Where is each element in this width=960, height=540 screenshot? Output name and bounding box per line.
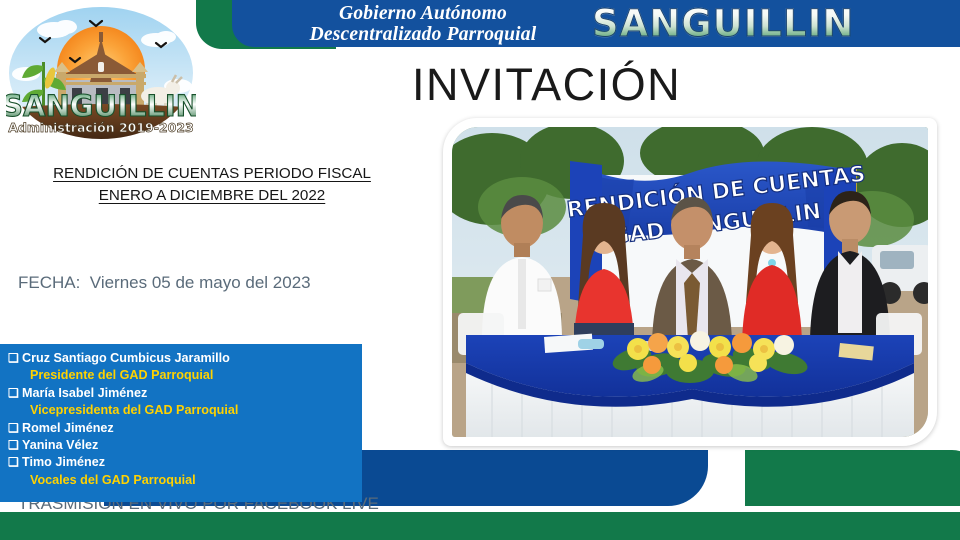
attendee-name: Yanina Vélez [22, 437, 98, 454]
attendee-name: Timo Jiménez [22, 454, 105, 471]
attendee-name: Cruz Santiago Cumbicus Jaramillo [22, 350, 230, 367]
attendees-list: ❑ Cruz Santiago Cumbicus Jaramillo Presi… [0, 344, 362, 502]
attendees-group-role: Vocales del GAD Parroquial [0, 472, 362, 489]
event-photo: RENDICIÓN DE CUENTAS GAD SANGUILLIN [452, 127, 928, 437]
government-name-line2: Descentralizado Parroquial [258, 24, 588, 45]
detail-fecha: FECHA: Viernes 05 de mayo del 2023 [18, 271, 379, 296]
event-headline: RENDICIÓN DE CUENTAS PERIODO FISCAL ENER… [12, 163, 412, 207]
logo-admin-text: Administración 2019-2023 [8, 120, 193, 135]
attendee-role: Presidente del GAD Parroquial [0, 367, 362, 384]
logo-name-text: SANGUILLIN [6, 89, 196, 123]
list-item: ❑ Romel Jiménez [0, 420, 362, 437]
footer-green-accent [745, 450, 960, 506]
logo-artwork: SANGUILLIN Administración 2019-2023 [6, 4, 196, 142]
checkbox-icon: ❑ [0, 454, 22, 471]
attendee-name: Romel Jiménez [22, 420, 114, 437]
event-headline-line1: RENDICIÓN DE CUENTAS PERIODO FISCAL [53, 165, 371, 182]
brand-wordmark: SANGUILLIN [592, 2, 854, 46]
invitation-poster: Gobierno Autónomo Descentralizado Parroq… [0, 0, 960, 540]
attendee-name: María Isabel Jiménez [22, 385, 147, 402]
government-name: Gobierno Autónomo Descentralizado Parroq… [258, 3, 588, 45]
event-photo-illustration: RENDICIÓN DE CUENTAS GAD SANGUILLIN [452, 127, 928, 437]
list-item: ❑ María Isabel Jiménez [0, 385, 362, 402]
event-headline-line2: ENERO A DICIEMBRE DEL 2022 [99, 187, 326, 204]
checkbox-icon: ❑ [0, 437, 22, 454]
list-item: ❑ Yanina Vélez [0, 437, 362, 454]
checkbox-icon: ❑ [0, 350, 22, 367]
sanguillin-logo: SANGUILLIN Administración 2019-2023 [6, 4, 196, 142]
event-photo-frame: RENDICIÓN DE CUENTAS GAD SANGUILLIN [443, 118, 937, 446]
checkbox-icon: ❑ [0, 420, 22, 437]
attendee-role: Vicepresidenta del GAD Parroquial [0, 402, 362, 419]
government-name-line1: Gobierno Autónomo [258, 3, 588, 24]
photo-person-2 [574, 203, 634, 347]
list-item: ❑ Cruz Santiago Cumbicus Jaramillo [0, 350, 362, 367]
photo-person-4 [742, 203, 802, 343]
checkbox-icon: ❑ [0, 385, 22, 402]
page-title: INVITACIÓN [412, 60, 681, 110]
list-item: ❑ Timo Jiménez [0, 454, 362, 471]
